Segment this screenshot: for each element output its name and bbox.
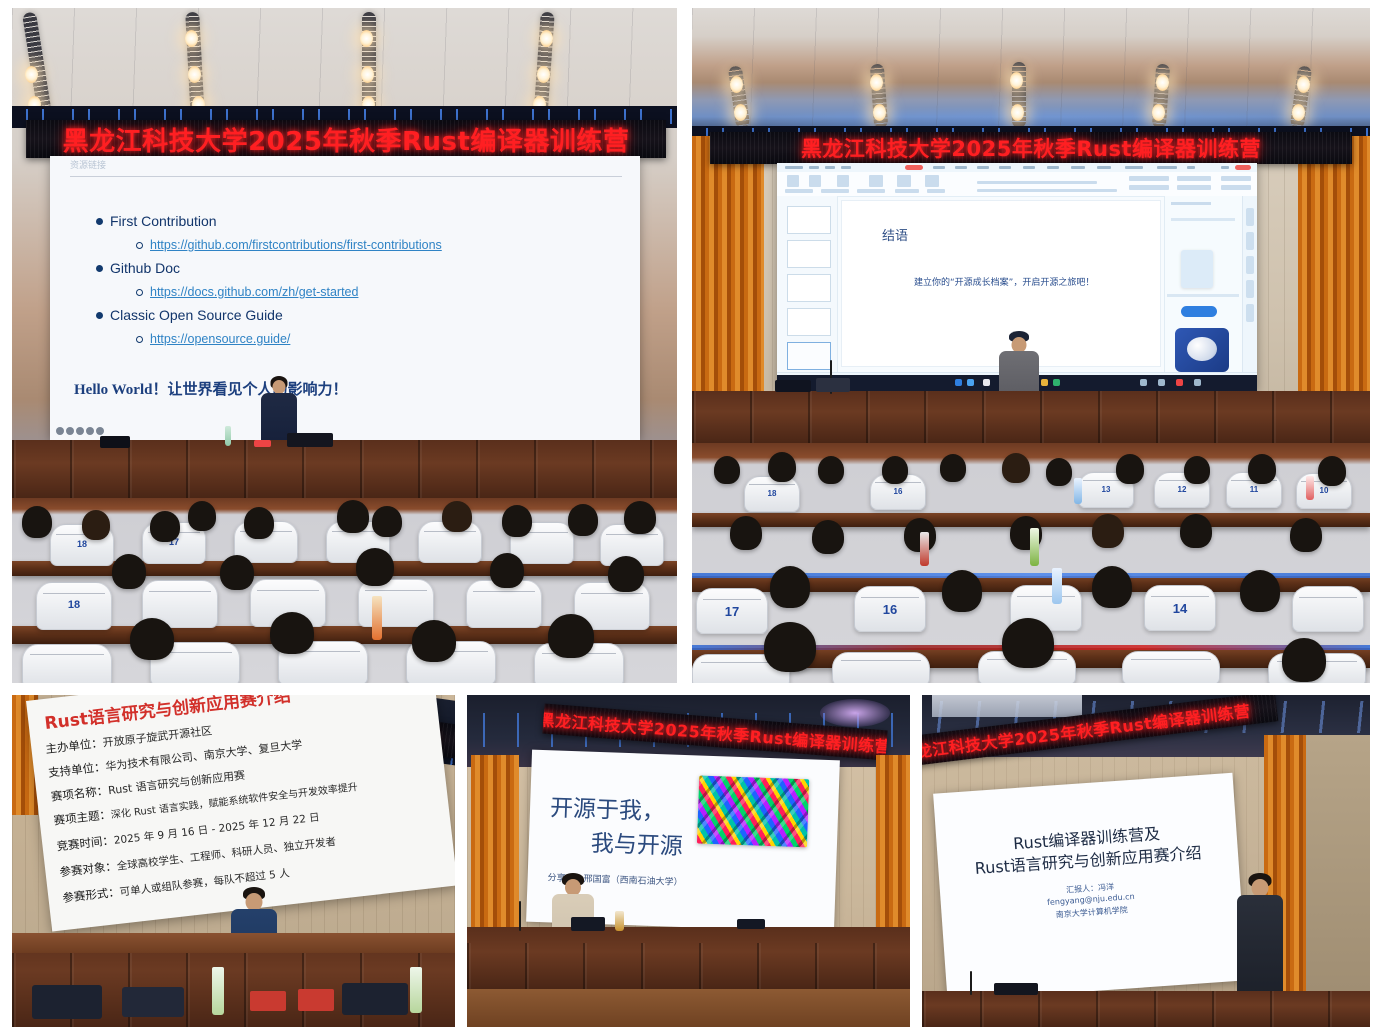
audience-head	[714, 456, 740, 484]
audience-head	[818, 456, 844, 484]
bullet-label: Classic Open Source Guide	[110, 307, 283, 323]
slide-thumbnail[interactable]	[787, 274, 831, 302]
audience-head	[1092, 514, 1124, 548]
audience-head	[812, 520, 844, 554]
bullet-label: First Contribution	[110, 213, 217, 229]
seat-number: 12	[1178, 485, 1187, 494]
slide-row-key: 参赛形式：	[62, 884, 121, 906]
audience-head	[412, 620, 456, 662]
ceiling-lamp	[1152, 104, 1165, 121]
wps-slide-body: 建立你的“开源成长档案”，开启开源之旅吧！	[914, 275, 1094, 288]
speaker-figure	[1234, 873, 1286, 1001]
ceiling-lamp	[25, 66, 38, 83]
audience-head	[1282, 638, 1326, 682]
podium-red-item	[254, 440, 271, 447]
audience-chair	[1122, 651, 1220, 683]
audience-head	[548, 614, 594, 658]
wall-dark-right	[1306, 735, 1370, 1027]
speaker-jacket	[1237, 895, 1283, 1001]
stage-front-panels	[12, 440, 677, 498]
led-banner: 黑龙江科技大学2025年秋季Rust编译器训练营	[710, 132, 1352, 164]
bullet-dot-icon	[96, 265, 103, 272]
audience-chair	[358, 579, 434, 627]
seat-number: 18	[68, 599, 80, 611]
stage-front-panels	[467, 943, 910, 989]
led-banner-text: 黑龙江科技大学2025年秋季Rust编译器训练营	[63, 121, 630, 158]
bullet-link[interactable]: https://github.com/firstcontributions/fi…	[150, 238, 442, 252]
audience-chair: 17	[696, 588, 768, 634]
ceiling-lamp	[1292, 104, 1305, 121]
name-card	[250, 991, 286, 1011]
audience-head	[568, 504, 598, 536]
link-classic-guide[interactable]: https://opensource.guide/	[136, 332, 290, 346]
bullet-first-contribution: First Contribution	[96, 213, 217, 229]
ceiling-lamp	[540, 30, 553, 47]
bullet-github-doc: Github Doc	[96, 260, 180, 276]
seat-number: 16	[894, 487, 903, 496]
audience-head	[1002, 618, 1054, 668]
audience-head	[1290, 518, 1322, 552]
audience-head	[150, 511, 180, 542]
bullet-link[interactable]: https://opensource.guide/	[150, 332, 290, 346]
slide-line-2: 我与开源	[590, 824, 683, 861]
stage-front-panels	[692, 391, 1370, 443]
led-banner-text: 黑龙江科技大学2025年秋季Rust编译器训练营	[801, 133, 1261, 163]
slide-faint-header: 资源链接	[70, 158, 106, 171]
name-card	[298, 989, 334, 1011]
audience-head	[372, 506, 402, 537]
wps-slide-thumbnail-pane[interactable]	[777, 196, 838, 373]
panel-top-right: 黑龙江科技大学2025年秋季Rust编译器训练营	[692, 8, 1370, 683]
link-first-contribution[interactable]: https://github.com/firstcontributions/fi…	[136, 238, 442, 252]
wps-slide-title: 结语	[882, 225, 908, 244]
ceiling-lamp	[730, 76, 743, 93]
audience-chair	[1292, 586, 1364, 632]
audience-head	[1116, 454, 1144, 484]
slide-row-key: 主办单位：	[45, 735, 104, 757]
ceiling-lamp	[188, 66, 201, 83]
bullet-label: Github Doc	[110, 260, 180, 276]
water-bottle	[410, 967, 422, 1013]
wps-ribbon[interactable]	[777, 172, 1257, 197]
projection-screen: 资源链接 First Contribution https://github.c…	[50, 156, 640, 440]
audience-head	[730, 516, 762, 550]
led-banner: 黑龙江科技大学2025年秋季Rust编译器训练营	[26, 120, 666, 158]
slide-thumbnail[interactable]	[787, 240, 831, 268]
side-panel-button[interactable]	[1181, 306, 1217, 317]
audience-head	[356, 548, 394, 586]
seat-number: 18	[768, 489, 777, 498]
projection-screen: Rust编译器训练营及 Rust语言研究与创新应用赛介绍 汇报人：冯洋 feng…	[933, 773, 1247, 1001]
ceiling-lamp	[1156, 74, 1169, 91]
audience-head	[768, 452, 796, 482]
audience-head	[1092, 566, 1132, 608]
slide-row-key: 竞赛时间：	[56, 832, 115, 854]
floor	[467, 989, 910, 1027]
audience-head	[337, 500, 369, 533]
bullet-ring-icon	[136, 336, 143, 343]
audience-head	[244, 507, 274, 539]
bullet-dot-icon	[96, 218, 103, 225]
audience-head	[624, 501, 656, 534]
panel-bottom-left: 年秋季Rust编译器训 Rust语言研究与创新应用赛介绍 主办单位： 开放原子旋…	[12, 695, 455, 1027]
audience-head	[764, 622, 816, 672]
seat-number: 18	[77, 539, 87, 549]
water-bottle	[1074, 478, 1082, 504]
audience-head	[1240, 570, 1280, 612]
panel-bottom-middle: 黑龙江科技大学2025年秋季Rust编译器训练营 开源于我， 我与开源 分享人：…	[467, 695, 910, 1027]
audience-head	[608, 556, 644, 592]
water-bottle	[212, 967, 224, 1015]
seat-number: 14	[1173, 601, 1187, 616]
ceiling-lamp	[873, 104, 886, 121]
microphone-stand	[970, 971, 972, 995]
audience-chair: 18	[36, 582, 112, 630]
bullet-ring-icon	[136, 242, 143, 249]
panel-bottom-right: 龙江科技大学2025年秋季Rust编译器训练营 Rust编译器训练营及 Rust…	[922, 695, 1370, 1027]
seat-number: 10	[1320, 486, 1329, 495]
slide-line-1: 开源于我，	[550, 788, 666, 826]
ceiling-lamp	[870, 74, 883, 91]
water-bottle	[1052, 568, 1062, 604]
audience-chair: 16	[854, 586, 926, 632]
audience-head	[502, 505, 532, 537]
podium-laptop	[287, 433, 333, 447]
water-bottle	[372, 596, 382, 640]
microphone-stand	[519, 901, 521, 931]
audience-head	[112, 554, 146, 589]
speaker-head	[273, 380, 286, 394]
podium-laptop	[994, 983, 1038, 995]
audience-head	[442, 501, 472, 532]
slide-thumbnail[interactable]	[787, 342, 831, 370]
water-bottle	[225, 426, 231, 446]
bullet-classic-guide: Classic Open Source Guide	[96, 307, 283, 323]
audience-head	[220, 555, 254, 590]
bullet-ring-icon	[136, 289, 143, 296]
wps-vertical-toolbar[interactable]	[1242, 196, 1257, 373]
audience-head	[1248, 454, 1276, 484]
audience-head	[940, 454, 966, 482]
slide-row-key: 赛项主题：	[53, 806, 112, 828]
ceiling-ribs	[692, 8, 1370, 136]
bullet-link[interactable]: https://docs.github.com/zh/get-started	[150, 285, 358, 299]
audience-chair: 18	[744, 476, 800, 512]
abstract-artwork-image	[697, 776, 809, 848]
water-bottle	[615, 911, 624, 931]
ceiling-lamp	[537, 66, 550, 83]
water-bottle	[920, 532, 929, 566]
audience-head	[770, 566, 810, 608]
audience-head	[1180, 514, 1212, 548]
audience-head	[1318, 456, 1346, 486]
audience-chair	[832, 652, 930, 683]
stage-front-panels	[922, 991, 1370, 1027]
audience-chair: 14	[1144, 585, 1216, 631]
bullet-dot-icon	[96, 312, 103, 319]
podium-device	[737, 919, 765, 929]
audience-head	[270, 612, 314, 654]
water-bottle	[1306, 476, 1314, 500]
photo-collage: 黑龙江科技大学2025年秋季Rust编译器训练营 资源链接 First Cont…	[0, 0, 1380, 1035]
podium-box	[816, 378, 850, 392]
audience-head	[490, 553, 524, 588]
slide-thumbnail[interactable]	[787, 308, 831, 336]
slide-row-key: 参赛对象：	[59, 858, 118, 880]
astronaut-illustration	[1175, 328, 1229, 372]
audience-head	[130, 618, 174, 660]
audience-chair	[22, 644, 112, 683]
laptop	[342, 983, 408, 1015]
slide-closing-line: Hello World！让世界看见个人的影响力！	[74, 378, 347, 399]
slide-divider	[70, 176, 622, 177]
seat-number: 17	[725, 604, 739, 619]
wps-side-panel[interactable]	[1164, 196, 1243, 373]
document-card-icon	[1181, 250, 1213, 288]
ceiling-lamp	[1011, 104, 1024, 121]
laptop	[122, 987, 184, 1017]
seat-number: 13	[1102, 485, 1111, 494]
slide-row-key: 赛项名称：	[50, 782, 109, 804]
laptop	[32, 985, 102, 1019]
creative-commons-badge	[56, 427, 104, 435]
seat-number: 11	[1250, 485, 1258, 494]
ceiling-lamp	[1297, 76, 1310, 93]
audience-head	[942, 570, 982, 612]
audience-head	[1184, 456, 1210, 484]
ceiling-lamp	[734, 104, 747, 121]
ceiling-lamp	[1010, 72, 1023, 89]
podium-monitor	[571, 917, 605, 931]
audience-head	[22, 506, 52, 538]
audience-head	[82, 510, 110, 540]
podium-device	[100, 436, 130, 448]
panel-top-left: 黑龙江科技大学2025年秋季Rust编译器训练营 资源链接 First Cont…	[12, 8, 677, 683]
audience-head	[188, 501, 216, 531]
table-top	[12, 933, 455, 953]
slide-row-key: 支持单位：	[47, 758, 106, 780]
slide-row-value: 开放原子旋武开源社区	[102, 722, 213, 750]
ceiling-lamp	[361, 66, 374, 83]
slide-thumbnail[interactable]	[787, 206, 831, 234]
water-bottle	[1030, 528, 1039, 566]
audience-head	[882, 456, 908, 484]
audience-head	[1002, 453, 1030, 483]
ceiling-lamp	[360, 30, 373, 47]
seat-number: 16	[883, 602, 897, 617]
podium-laptop	[775, 380, 811, 392]
ceiling-spotlight	[820, 699, 890, 727]
ceiling-light-panel	[932, 695, 1082, 717]
audience-head	[1046, 458, 1072, 486]
link-github-doc[interactable]: https://docs.github.com/zh/get-started	[136, 285, 358, 299]
ceiling-lamp	[185, 30, 198, 47]
